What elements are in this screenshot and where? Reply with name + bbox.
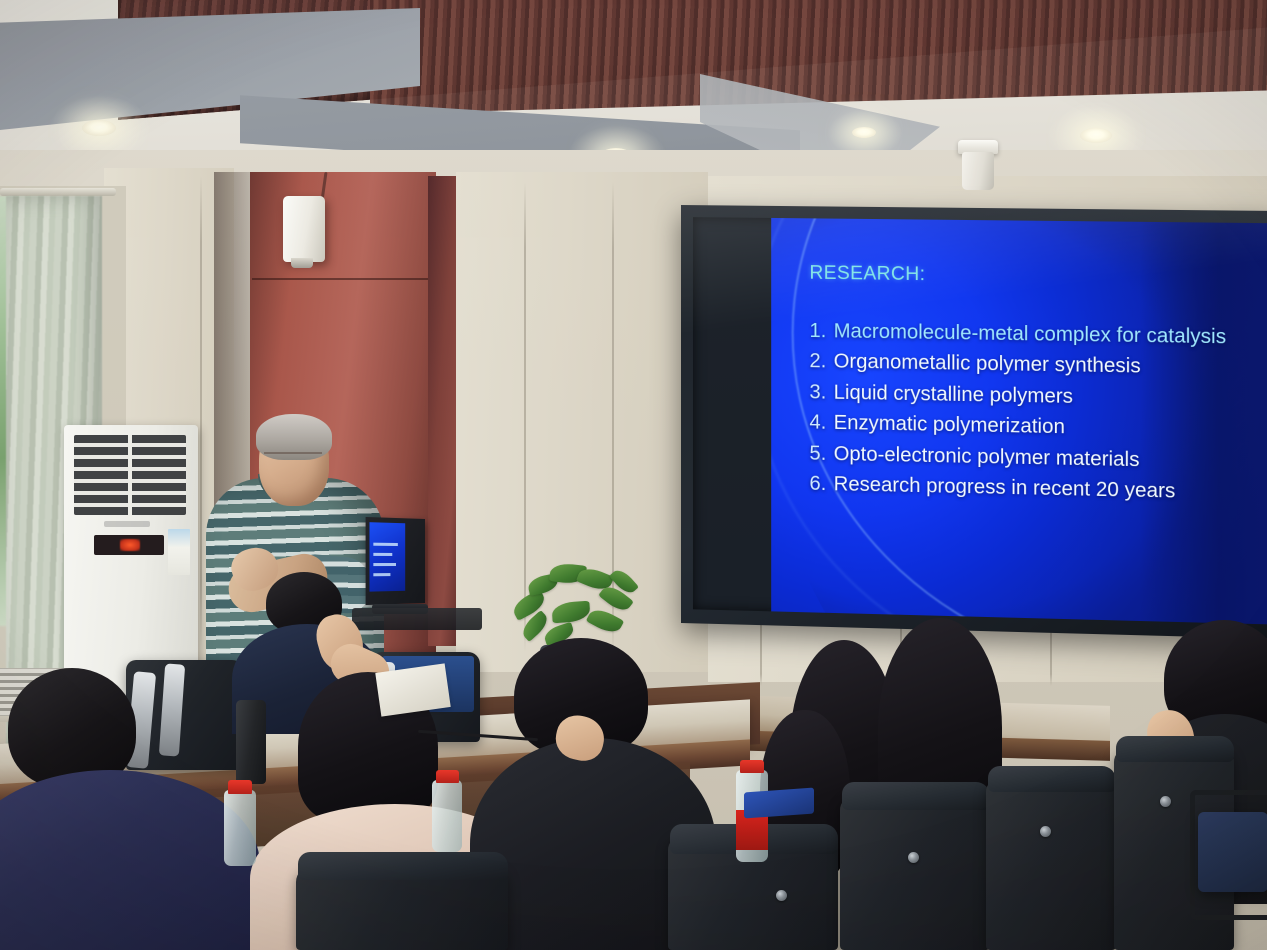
ceiling-camera [962, 152, 994, 190]
presenter-glasses [264, 452, 322, 467]
wall-seam-a [200, 176, 202, 646]
chair-front-right-3[interactable] [986, 778, 1116, 950]
wall-speaker [283, 196, 325, 262]
curtain-rod [0, 188, 116, 196]
plant-leaf [586, 605, 624, 637]
water-bottle-center[interactable] [432, 780, 462, 852]
thermos-flask[interactable] [236, 700, 266, 784]
chair-rivet [1040, 826, 1051, 837]
slide-item-number: 5. [809, 439, 833, 468]
slide-content-area: RESEARCH: 1. Macromolecule-metal complex… [771, 218, 1267, 624]
monitor-text-line [373, 573, 390, 576]
downlight-3 [1080, 128, 1112, 143]
slide-item-text: Liquid crystalline polymers [834, 378, 1073, 411]
slide-item-number: 2. [809, 347, 833, 376]
downlight-4 [852, 127, 876, 138]
wall-speaker-bracket [291, 258, 313, 268]
chair-headrest [988, 766, 1116, 792]
slide-item-number: 4. [809, 408, 833, 437]
water-bottle-cap [228, 780, 252, 794]
slide-text-block: RESEARCH: 1. Macromolecule-metal complex… [771, 218, 1267, 508]
slide-item-number: 3. [809, 378, 833, 407]
air-conditioner-display [94, 535, 164, 555]
slide-list-item: 1. Macromolecule-metal complex for catal… [809, 317, 1261, 353]
soda-bottle-cap [740, 760, 764, 773]
monitor-text-line [373, 553, 392, 556]
downlight-1 [82, 120, 116, 136]
chair-headrest [842, 782, 990, 810]
air-conditioner-energy-label [168, 529, 190, 575]
conference-room-photo: RESEARCH: 1. Macromolecule-metal complex… [0, 0, 1267, 950]
slide-item-text: Enzymatic polymerization [834, 409, 1065, 442]
chair-headrest [1116, 736, 1234, 762]
plant-leaf [551, 601, 590, 624]
slide-list-item: 2. Organometallic polymer synthesis [809, 347, 1261, 383]
chair-rivet [1160, 796, 1171, 807]
slide-research-list: 1. Macromolecule-metal complex for catal… [809, 317, 1261, 508]
blue-device-on-table[interactable] [744, 788, 814, 819]
slide-item-text: Opto-electronic polymer materials [834, 440, 1140, 475]
air-conditioner-led [120, 539, 140, 551]
slide-item-number: 1. [809, 317, 833, 346]
chair-rivet [908, 852, 919, 863]
slide-item-number: 6. [809, 470, 833, 499]
chair-front-right-2[interactable] [840, 796, 990, 950]
presenter-monitor-screen [369, 522, 405, 591]
water-bottle-left[interactable] [224, 790, 256, 866]
slide-item-text: Macromolecule-metal complex for catalysi… [834, 317, 1226, 352]
podium-desk-items [352, 608, 482, 630]
monitor-text-line [373, 563, 396, 566]
presentation-display[interactable]: RESEARCH: 1. Macromolecule-metal complex… [681, 205, 1267, 639]
chair-headrest [298, 852, 508, 880]
slide-heading: RESEARCH: [809, 263, 1261, 291]
wall-wood-seam [252, 278, 436, 280]
air-conditioner-grille-divider [128, 435, 132, 515]
slide-item-text: Organometallic polymer synthesis [834, 348, 1141, 382]
air-conditioner-brand-mark [104, 521, 150, 527]
monitor-text-line [373, 543, 398, 546]
water-bottle-cap [436, 770, 459, 783]
presenter-monitor[interactable] [366, 517, 425, 605]
chair-far-right-seat[interactable] [1198, 812, 1267, 892]
chair-rivet [776, 890, 787, 901]
